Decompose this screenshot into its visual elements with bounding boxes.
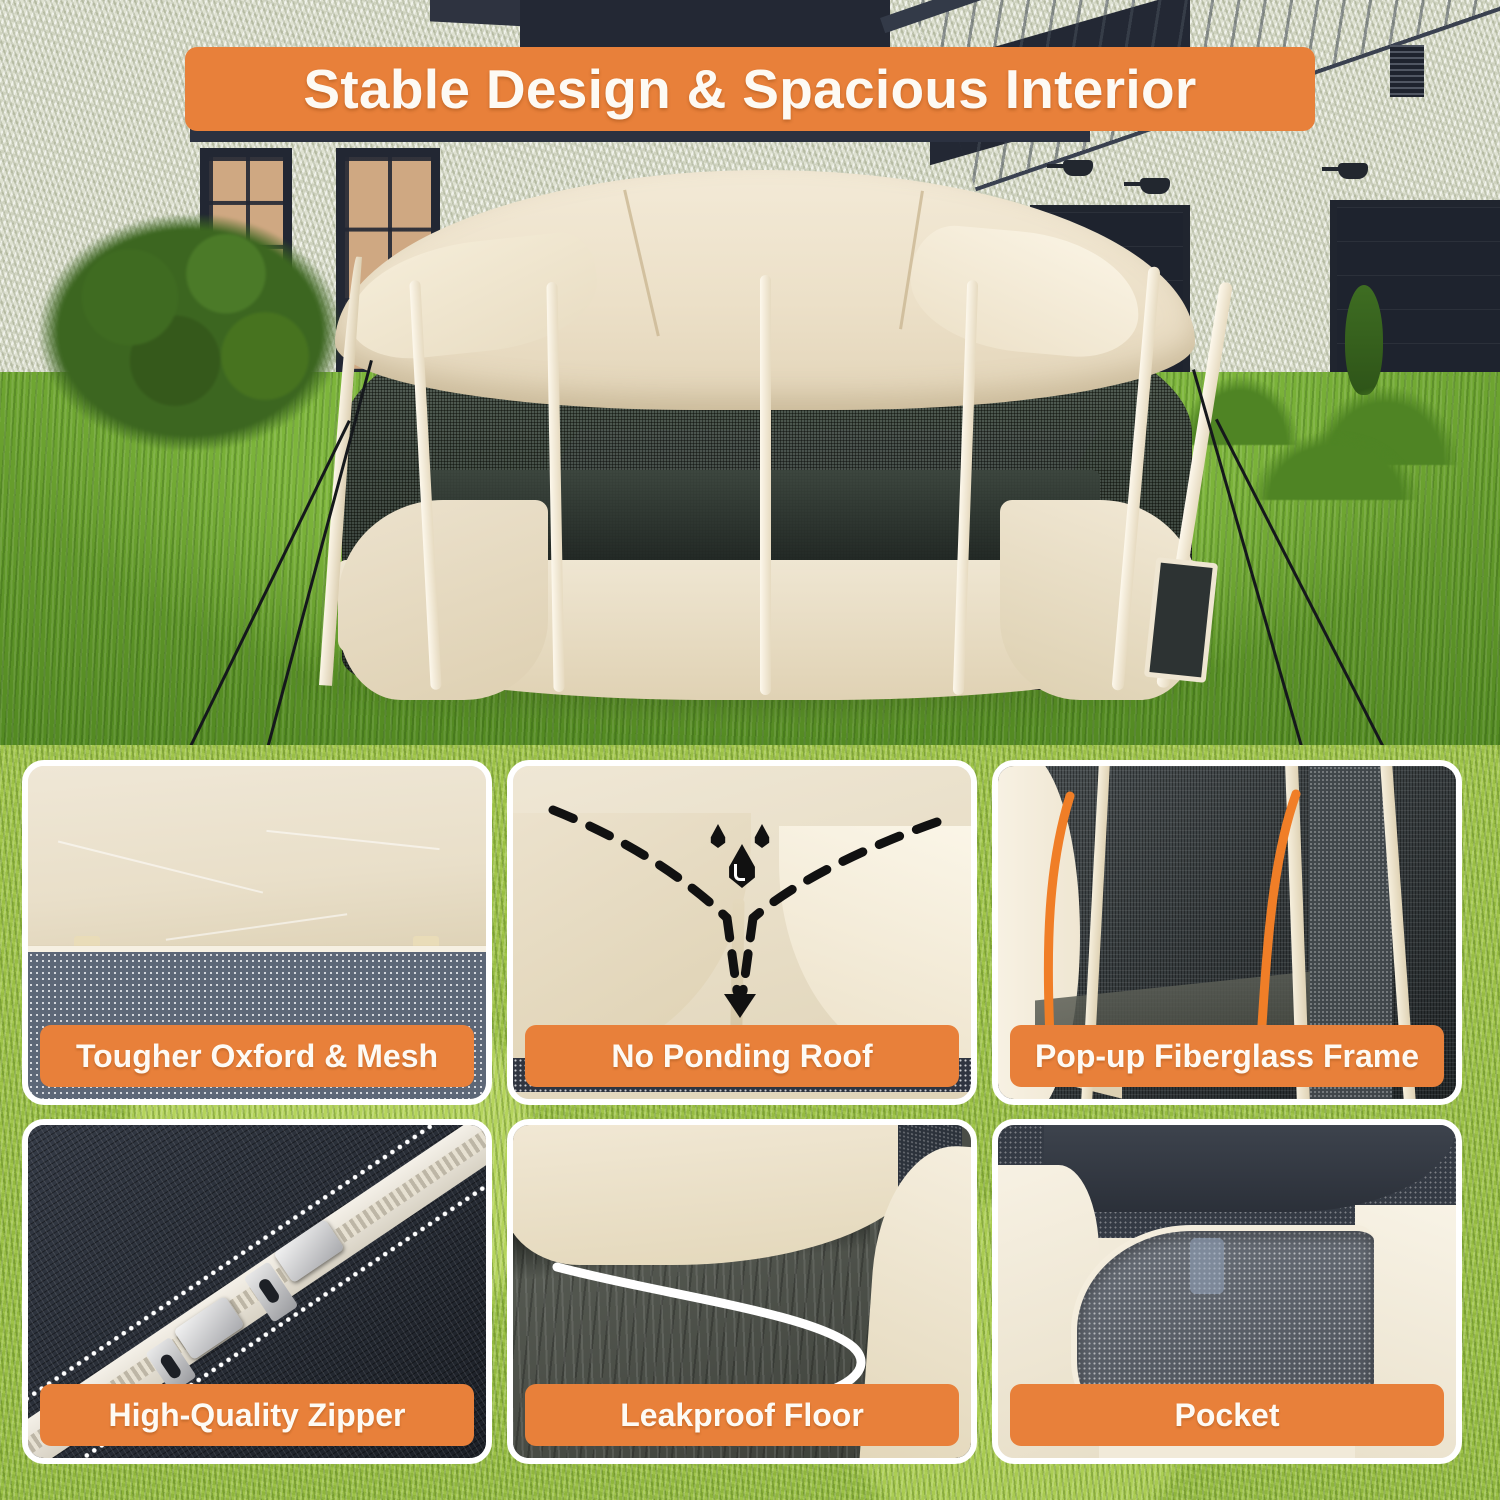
screen-house-tent: [120, 170, 1410, 710]
hero-product-image: Stable Design & Spacious Interior: [0, 0, 1500, 745]
page-title: Stable Design & Spacious Interior: [303, 57, 1196, 121]
feature-grid: Tougher Oxford & Mesh No Ponding Roof: [0, 752, 1500, 1500]
feature-label-badge: Leakproof Floor: [525, 1384, 959, 1446]
feature-label: High-Quality Zipper: [109, 1397, 406, 1434]
feature-card-pop-up-fiberglass-frame[interactable]: Pop-up Fiberglass Frame: [992, 760, 1462, 1105]
tent-pole: [760, 275, 771, 695]
gable-vent-icon: [1390, 45, 1424, 97]
guy-line: [1192, 369, 1316, 745]
feature-label-badge: No Ponding Roof: [525, 1025, 959, 1087]
feature-card-high-quality-zipper[interactable]: High-Quality Zipper: [22, 1119, 492, 1464]
feature-label: Pop-up Fiberglass Frame: [1035, 1038, 1419, 1075]
feature-card-leakproof-floor[interactable]: Leakproof Floor: [507, 1119, 977, 1464]
feature-label-badge: Pocket: [1010, 1384, 1444, 1446]
guy-line: [1215, 419, 1408, 745]
feature-label-badge: Tougher Oxford & Mesh: [40, 1025, 474, 1087]
feature-card-tougher-oxford-mesh[interactable]: Tougher Oxford & Mesh: [22, 760, 492, 1105]
pocket-tag: [1190, 1238, 1224, 1294]
feature-label: Tougher Oxford & Mesh: [76, 1038, 438, 1075]
feature-label: Pocket: [1175, 1397, 1280, 1434]
tent-side-window: [1144, 557, 1218, 683]
feature-label-badge: High-Quality Zipper: [40, 1384, 474, 1446]
guy-line: [164, 420, 351, 745]
feature-card-no-ponding-roof[interactable]: No Ponding Roof: [507, 760, 977, 1105]
feature-label-badge: Pop-up Fiberglass Frame: [1010, 1025, 1444, 1087]
tent-skirt-left: [338, 500, 548, 700]
feature-label: Leakproof Floor: [620, 1397, 864, 1434]
feature-card-pocket[interactable]: Pocket: [992, 1119, 1462, 1464]
title-banner: Stable Design & Spacious Interior: [185, 47, 1315, 131]
feature-label: No Ponding Roof: [611, 1038, 872, 1075]
